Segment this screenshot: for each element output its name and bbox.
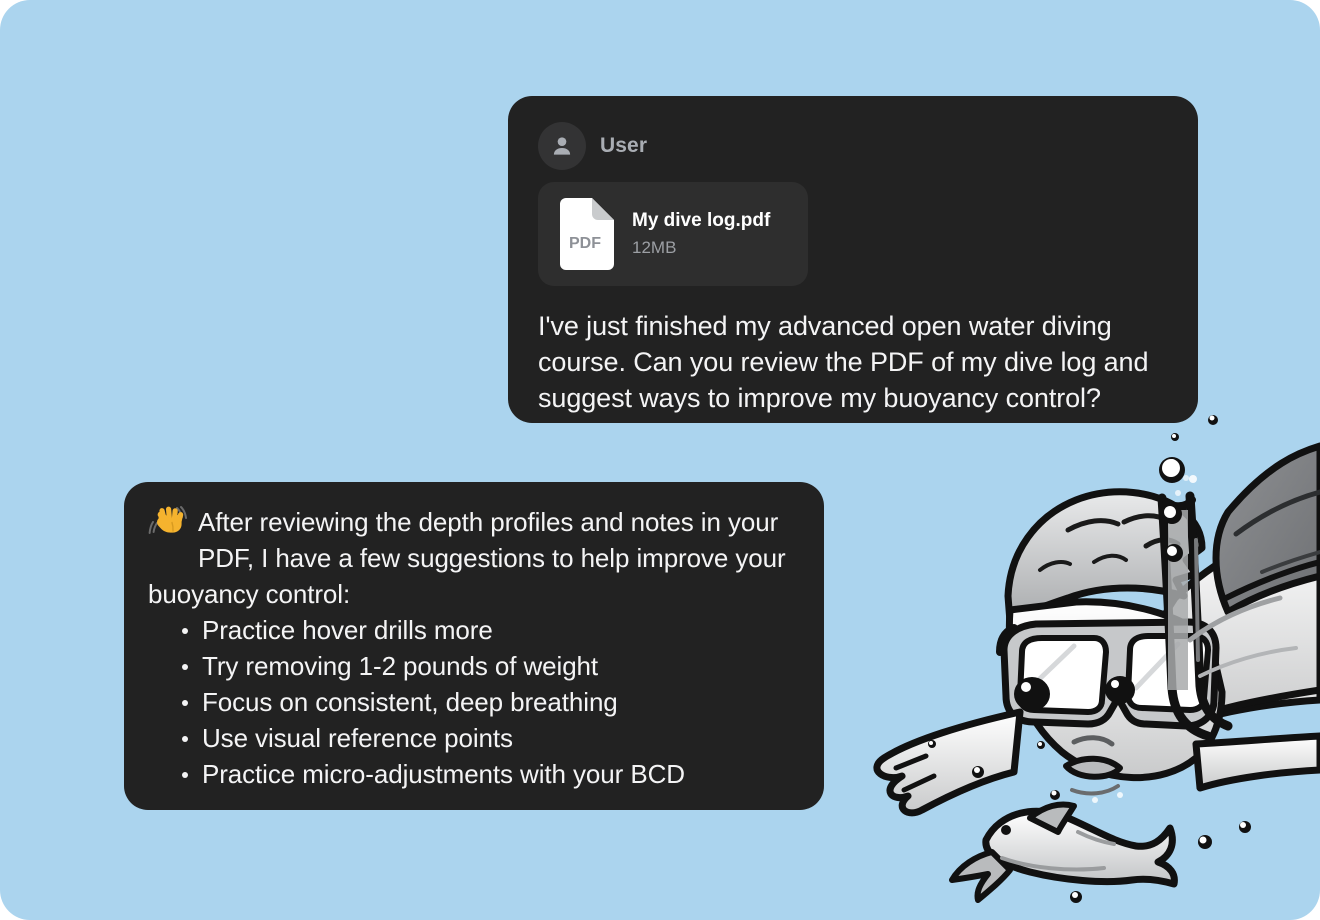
attachment-file-name: My dive log.pdf (632, 210, 770, 232)
suggestion-list: Practice hover drills more Try removing … (148, 612, 798, 792)
assistant-intro-text: After reviewing the depth profiles and n… (148, 507, 786, 609)
list-item: Practice micro-adjustments with your BCD (202, 756, 798, 792)
diver-head (1000, 492, 1222, 794)
person-avatar-icon (538, 122, 586, 170)
attachment-file-size: 12MB (632, 238, 770, 258)
list-item: Try removing 1-2 pounds of weight (202, 648, 798, 684)
user-message-bubble: User PDF My dive log.pdf 12MB I've just … (508, 96, 1198, 423)
diver-figure (877, 446, 1320, 813)
snorkel (1162, 496, 1228, 736)
assistant-intro-block: After reviewing the depth profiles and n… (148, 504, 798, 612)
assistant-message-bubble: After reviewing the depth profiles and n… (124, 482, 824, 810)
svg-text:PDF: PDF (569, 235, 601, 252)
user-header: User (538, 122, 1168, 170)
fish (952, 805, 1174, 901)
user-message-text: I've just finished my advanced open wate… (538, 308, 1168, 416)
list-item: Focus on consistent, deep breathing (202, 684, 798, 720)
diver-arm-left (877, 712, 1020, 813)
attachment-card[interactable]: PDF My dive log.pdf 12MB (538, 182, 808, 286)
wetsuit-shorts (1216, 446, 1320, 612)
scene-root: User PDF My dive log.pdf 12MB I've just … (0, 0, 1320, 920)
waving-hand-emoji (148, 504, 188, 542)
dive-mask (1004, 622, 1216, 726)
list-item: Use visual reference points (202, 720, 798, 756)
bubbles (928, 383, 1251, 903)
list-item: Practice hover drills more (202, 612, 798, 648)
user-name-label: User (600, 134, 647, 158)
pdf-file-icon: PDF (556, 198, 614, 270)
